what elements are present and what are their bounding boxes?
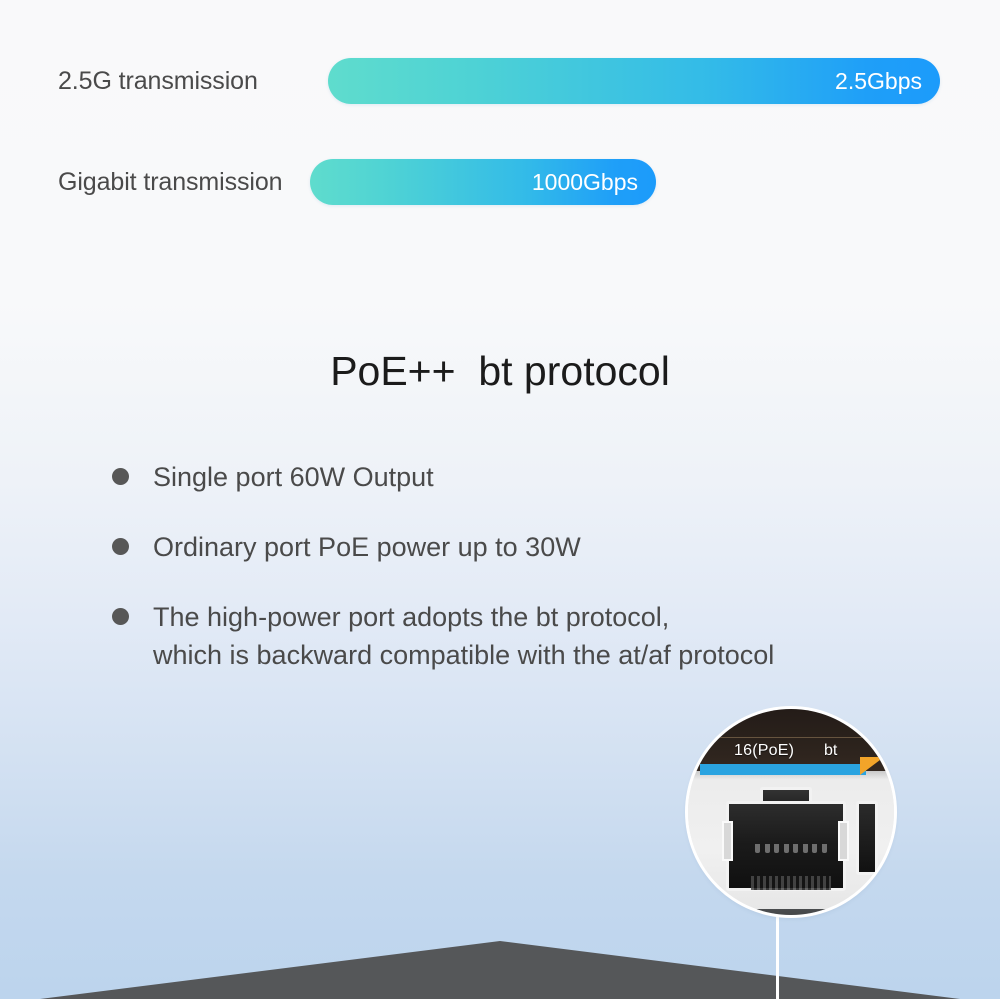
bar-value-gigabit: 1000Gbps (532, 169, 656, 196)
faceplate-hairline (688, 737, 894, 738)
bar-row: 2.5G transmission 2.5Gbps (58, 58, 940, 104)
bar-track: 1000Gbps (310, 159, 656, 205)
page-title: PoE++ bt protocol (0, 348, 1000, 395)
orange-accent-icon (860, 757, 884, 775)
list-item-label: Single port 60W Output (153, 458, 434, 496)
port-number-label: 16(PoE) (734, 742, 794, 760)
list-item-label: The high-power port adopts the bt protoc… (153, 598, 774, 674)
magnifier-content: 16(PoE) bt (688, 709, 894, 915)
port-protocol-label: bt (824, 742, 837, 760)
rj45-clip-right (838, 821, 849, 861)
bar-label-gigabit: Gigabit transmission (58, 168, 310, 197)
bar-fill-2point5g: 2.5Gbps (328, 58, 940, 104)
bar-track: 2.5Gbps (328, 58, 940, 104)
rj45-port-icon (726, 787, 846, 891)
bar-value-2point5g: 2.5Gbps (835, 68, 940, 95)
bullet-dot-icon (112, 468, 129, 485)
list-item: Single port 60W Output (112, 458, 932, 496)
rj45-grill (751, 876, 831, 890)
bar-label-2point5g: 2.5G transmission (58, 67, 328, 96)
rj45-shell (726, 801, 846, 891)
device-bottom-band (688, 909, 894, 915)
switch-faceplate: 16(PoE) bt (688, 709, 894, 771)
rj45-clip-left (722, 821, 733, 861)
magnifier-leader-line (776, 905, 779, 999)
bar-fill-gigabit: 1000Gbps (310, 159, 656, 205)
list-item: Ordinary port PoE power up to 30W (112, 528, 932, 566)
list-item-label: Ordinary port PoE power up to 30W (153, 528, 581, 566)
rj45-pins (755, 844, 827, 853)
bullet-dot-icon (112, 538, 129, 555)
bar-row: Gigabit transmission 1000Gbps (58, 159, 656, 205)
device-silhouette (0, 937, 1000, 999)
device-top-surface (40, 941, 960, 999)
bullet-dot-icon (112, 608, 129, 625)
feature-bullet-list: Single port 60W Output Ordinary port PoE… (112, 458, 932, 674)
list-item: The high-power port adopts the bt protoc… (112, 598, 932, 674)
blue-stripe (700, 764, 866, 775)
adjacent-port (856, 801, 878, 875)
port-magnifier-callout: 16(PoE) bt (688, 709, 894, 915)
